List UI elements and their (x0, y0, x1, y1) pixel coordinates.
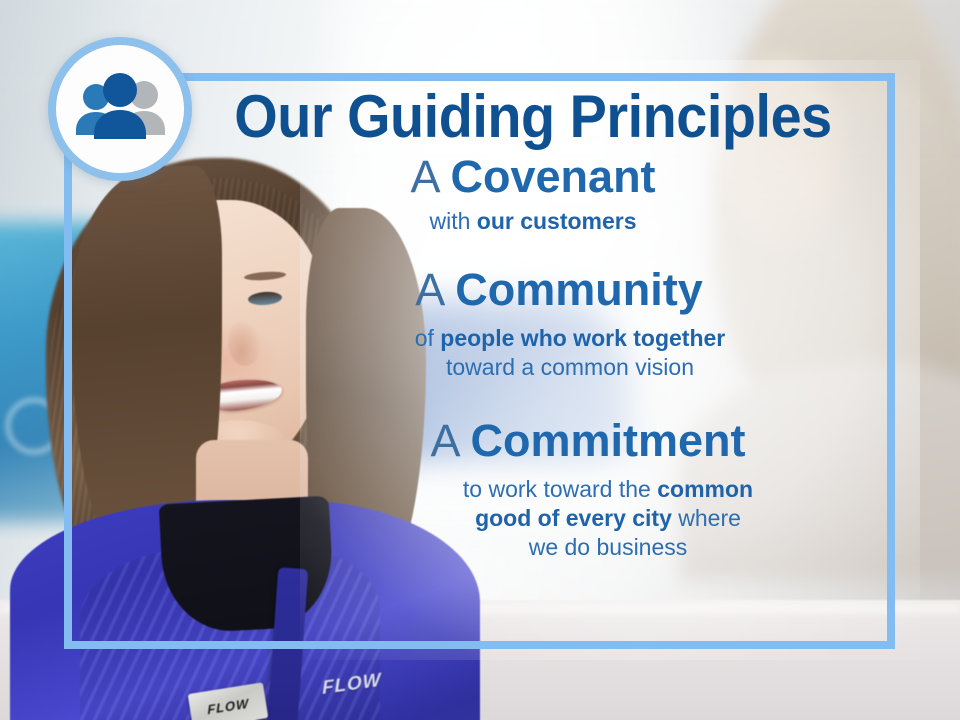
principle-covenant-lead: A Covenant (190, 153, 876, 201)
principle-keyword: Covenant (451, 151, 656, 202)
principle-keyword: Community (455, 264, 703, 315)
name-badge-text: FLOW (207, 695, 250, 717)
principle-keyword: Commitment (471, 415, 746, 466)
sub-text-regular: of (415, 325, 441, 351)
sub-text-regular: with (429, 208, 476, 234)
principle-covenant-sub: with our customers (190, 207, 876, 236)
principle-commitment-sub: to work toward the common good of every … (190, 475, 876, 563)
principle-commitment-lead: A Commitment (190, 417, 876, 465)
copy-block: Our Guiding Principles A Covenant with o… (190, 86, 876, 563)
people-badge (48, 37, 192, 181)
sub-text-bold: people who work together (440, 325, 725, 351)
principle-commitment: A Commitment to work toward the common g… (190, 417, 876, 563)
principle-community-sub: of people who work together toward a com… (190, 324, 876, 383)
principle-community-lead: A Community (190, 266, 876, 314)
sub-text-regular: where (672, 505, 741, 531)
principle-article: A (430, 415, 458, 466)
guiding-principles-graphic: FLOW FLOW Our G (0, 0, 960, 720)
sub-text-bold: common (657, 476, 753, 502)
principle-covenant: A Covenant with our customers (190, 153, 876, 236)
principle-article: A (410, 151, 438, 202)
sub-text-regular: we do business (529, 534, 688, 560)
sub-text-regular: toward a common vision (446, 354, 694, 380)
principle-article: A (415, 264, 443, 315)
sub-text-bold: our customers (477, 208, 637, 234)
page-title: Our Guiding Principles (214, 86, 852, 147)
people-group-icon (68, 73, 172, 145)
sub-text-regular: to work toward the (463, 476, 657, 502)
sub-text-bold: good of every city (475, 505, 672, 531)
principle-community: A Community of people who work together … (190, 266, 876, 383)
